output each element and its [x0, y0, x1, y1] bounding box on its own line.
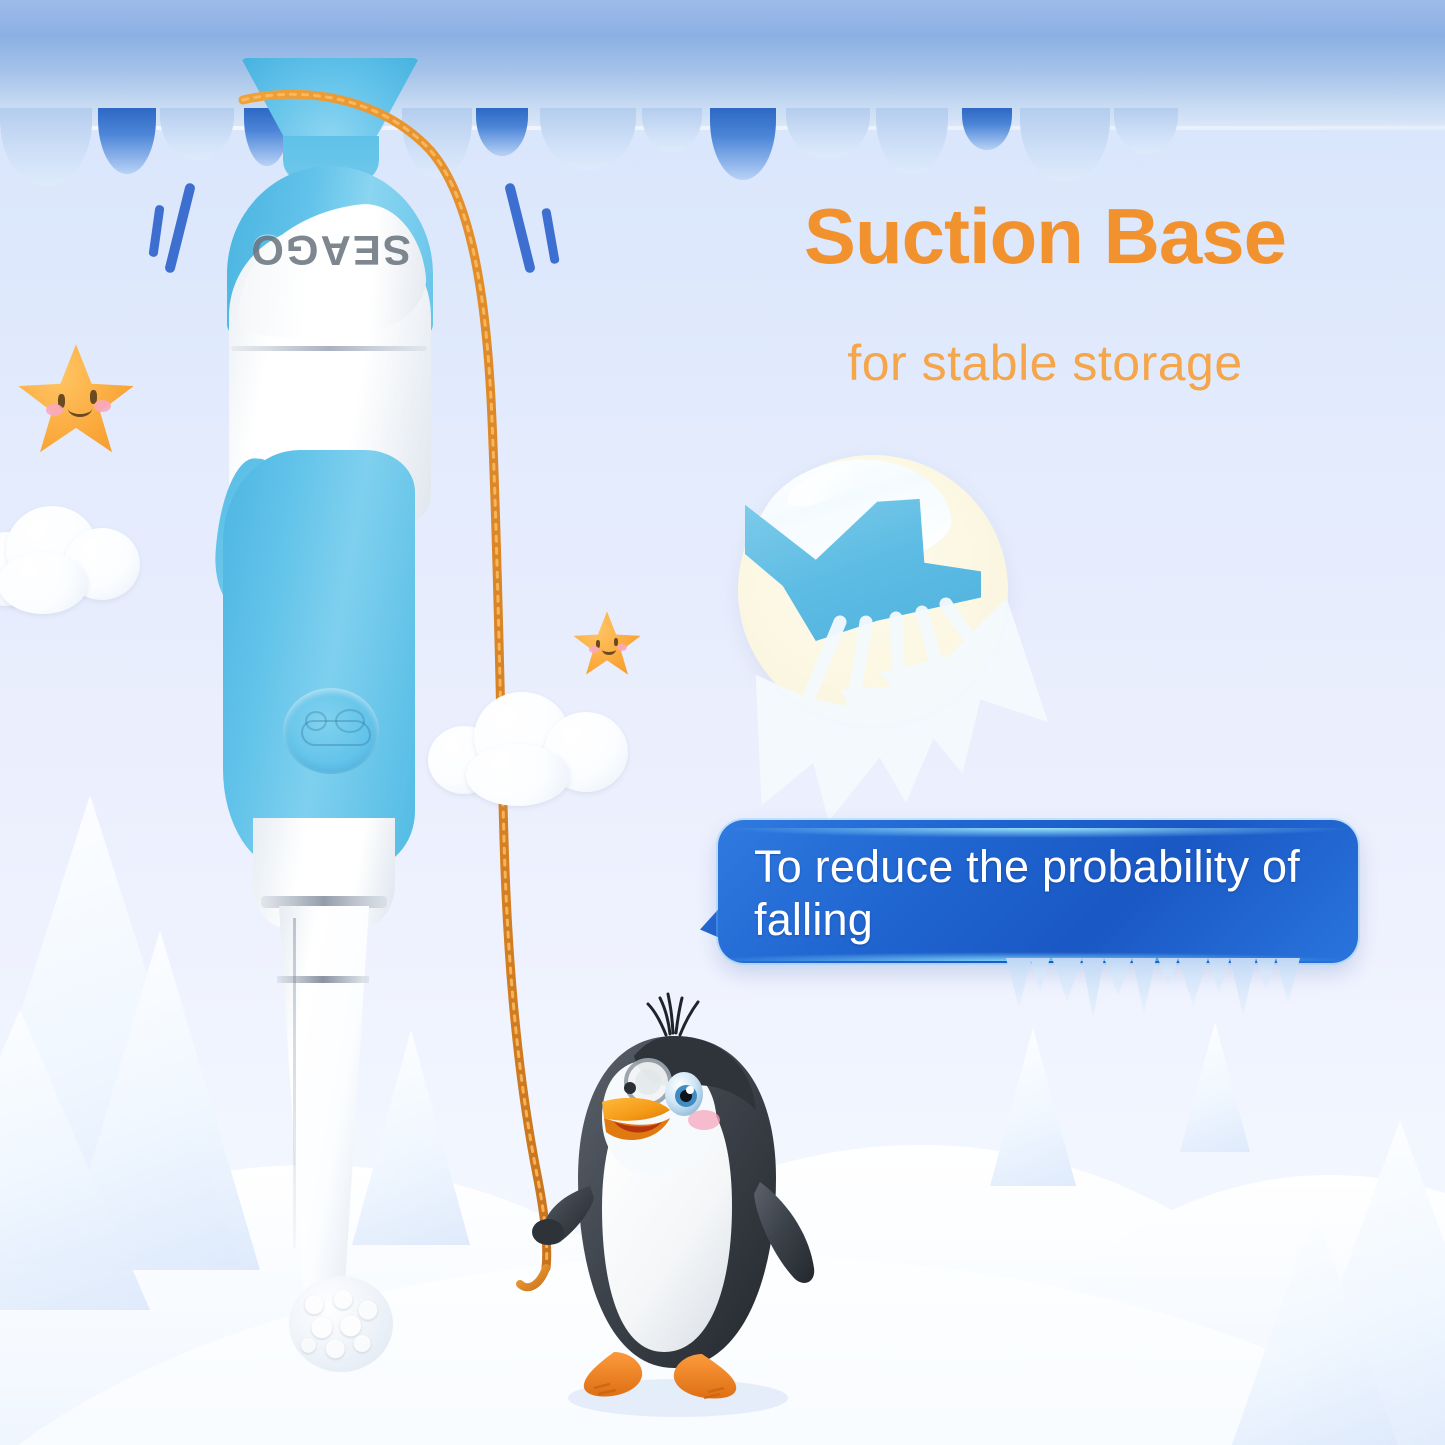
page-subtitle: for stable storage — [700, 334, 1390, 392]
product-bristles — [293, 1282, 389, 1370]
product-neck-stripe — [293, 918, 296, 1248]
cloud-center — [428, 686, 634, 810]
penguin-mascot — [498, 986, 838, 1426]
callout-text: To reduce the probability of falling — [754, 840, 1344, 946]
airflow-arrows — [700, 560, 1080, 850]
product-brand-logo: SEAGO — [205, 226, 455, 274]
product-toothbrush: SEAGO — [205, 58, 455, 1328]
cloud-icon — [301, 720, 371, 746]
star-small — [572, 610, 642, 678]
product-neck-band — [277, 976, 369, 983]
star-large — [16, 342, 136, 458]
bubble-icicle-row — [1000, 958, 1300, 1022]
product-seam-line — [231, 346, 427, 351]
cloud-left — [0, 498, 148, 618]
page-title: Suction Base — [700, 196, 1390, 278]
product-feature-banner: SEAGO — [0, 0, 1445, 1445]
product-silicone-grip — [223, 450, 415, 870]
product-brush-neck — [275, 906, 373, 1306]
